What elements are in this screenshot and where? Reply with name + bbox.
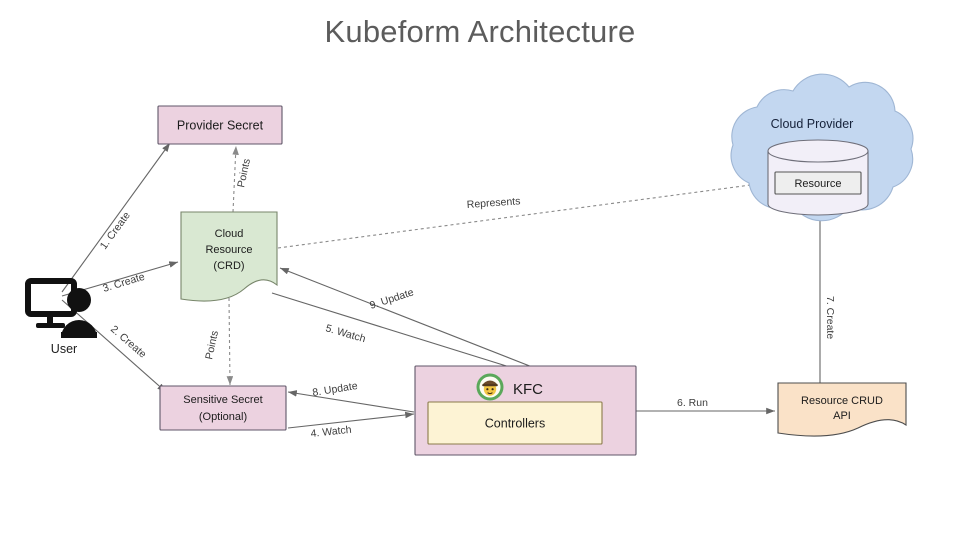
- edge-label-1-create: 1. Create: [98, 210, 133, 252]
- edge-label-points-sensitive: Points: [203, 330, 221, 361]
- node-cloud-resource[interactable]: Cloud Resource (CRD): [181, 212, 277, 301]
- resource-label: Resource: [794, 178, 841, 190]
- edge-label-7-create: 7. Create: [824, 296, 836, 339]
- node-kfc[interactable]: KFC Controllers: [415, 366, 636, 455]
- diagram-svg: 1. Create 3. Create 2. Create Points Poi…: [0, 0, 960, 540]
- provider-secret-label: Provider Secret: [177, 118, 264, 132]
- edge-cloud-resource-points-provider-secret: Points: [233, 146, 253, 212]
- node-resource-crud-api[interactable]: Resource CRUD API: [778, 383, 906, 436]
- cloud-provider-label: Cloud Provider: [771, 117, 854, 131]
- edge-label-2-create: 2. Create: [108, 323, 149, 360]
- edge-sensitive-secret-to-kfc-watch: 4. Watch: [288, 414, 414, 440]
- sensitive-secret-line1: Sensitive Secret: [183, 394, 262, 406]
- kfc-label: KFC: [513, 381, 543, 398]
- diagram-canvas: Kubeform Architecture 1. Create 3. Creat…: [0, 0, 960, 540]
- edge-label-3-create: 3. Create: [101, 271, 146, 295]
- edge-cloud-resource-points-sensitive-secret: Points: [203, 298, 230, 385]
- kfc-controllers-label: Controllers: [485, 416, 545, 430]
- edge-label-8-update: 8. Update: [312, 380, 359, 399]
- edge-kfc-to-crud-api-run: 6. Run: [636, 397, 775, 411]
- edge-cloud-resource-represents-resource: Represents: [278, 182, 773, 248]
- edge-cloud-resource-to-kfc-watch: 5. Watch: [272, 293, 545, 378]
- edge-label-9-update: 9. Update: [368, 286, 415, 312]
- edge-crud-api-to-resource-create: 7. Create: [820, 196, 836, 383]
- sensitive-secret-line2: (Optional): [199, 411, 247, 423]
- edge-label-4-watch: 4. Watch: [310, 424, 352, 440]
- cloud-resource-line2: Resource: [205, 244, 252, 256]
- edge-label-represents: Represents: [466, 195, 520, 211]
- user-label: User: [51, 342, 77, 356]
- edge-kfc-to-sensitive-secret-update: 8. Update: [288, 380, 414, 412]
- cloud-resource-line1: Cloud: [215, 228, 244, 240]
- edge-label-6-run: 6. Run: [677, 397, 708, 409]
- kfc-colonel-icon: [477, 374, 504, 401]
- node-provider-secret[interactable]: Provider Secret: [158, 106, 282, 144]
- user-icon[interactable]: User: [28, 281, 97, 356]
- node-resource[interactable]: Resource: [775, 172, 861, 194]
- edge-label-points-provider: Points: [235, 158, 253, 189]
- cloud-resource-line3: (CRD): [213, 260, 244, 272]
- edge-label-5-watch: 5. Watch: [324, 322, 367, 345]
- resource-crud-api-line2: API: [833, 410, 851, 422]
- resource-crud-api-line1: Resource CRUD: [801, 395, 883, 407]
- user-monitor-icon: [28, 281, 97, 338]
- edge-kfc-to-cloud-resource-update: 9. Update: [280, 268, 545, 372]
- node-sensitive-secret[interactable]: Sensitive Secret (Optional): [160, 386, 286, 430]
- edge-user-to-sensitive-secret: 2. Create: [62, 300, 166, 392]
